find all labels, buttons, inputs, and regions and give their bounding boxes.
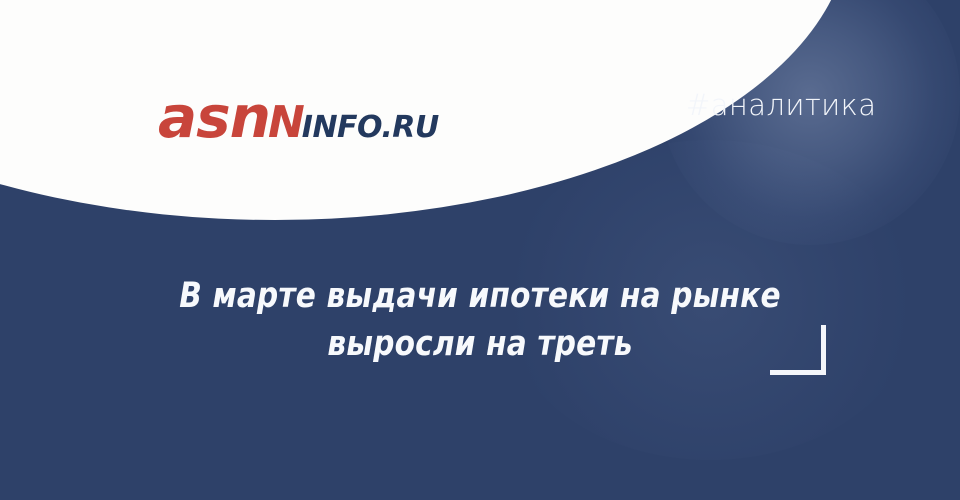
corner-bracket-horizontal-stroke [770,370,826,375]
logo-mark-n: N [268,101,305,145]
page-title-line-1: В марте выдачи ипотеки на рынке [29,272,931,320]
asn-info-logo[interactable]: asnNINFO.RU [158,88,439,146]
hashtag-analitika[interactable]: #аналитика [686,88,876,122]
logo-suffix-inforu: INFO.RU [302,113,439,143]
corner-bracket-icon [770,325,826,375]
social-card: asnNINFO.RU #аналитика В марте выдачи ип… [0,0,960,500]
logo-mark-asn: asn [158,88,270,146]
corner-bracket-vertical-stroke [821,325,826,375]
